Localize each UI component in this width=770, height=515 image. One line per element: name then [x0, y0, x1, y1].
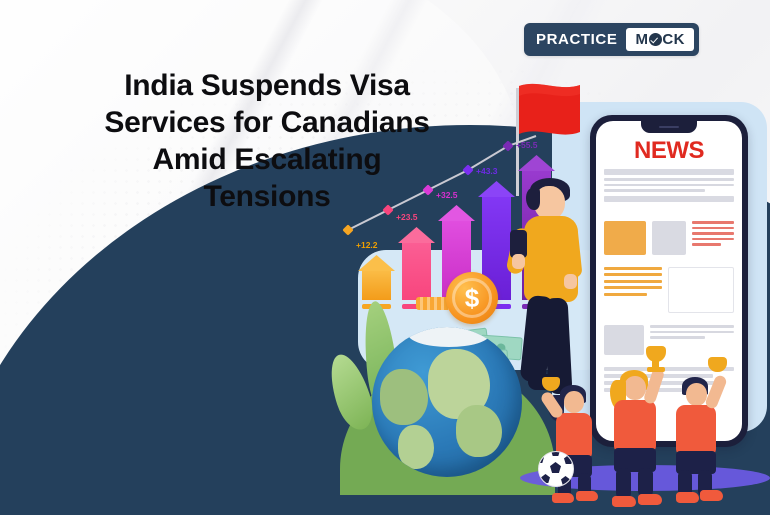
person-hand-right	[564, 274, 577, 289]
person-hand-left	[512, 254, 525, 269]
practicemock-logo[interactable]: PRACTICE MCK	[524, 23, 699, 56]
news-heading: NEWS	[596, 137, 742, 165]
page-title: India Suspends Visa Services for Canadia…	[52, 68, 482, 216]
globe-landmass-4	[398, 425, 434, 469]
shoe-5	[676, 492, 699, 503]
poster-canvas: PRACTICE MCK India Suspends Visa Service…	[0, 0, 770, 515]
logo-practice-text: PRACTICE	[529, 28, 626, 51]
globe-landmass-1	[380, 369, 428, 425]
bar-5-cap-icon	[518, 155, 555, 171]
news-block-article-2	[604, 267, 734, 313]
logo-mock-text: MCK	[626, 28, 693, 51]
person-hair-side	[526, 188, 540, 210]
news-block-article-1	[604, 221, 734, 255]
dollar-coin-icon: $	[446, 272, 498, 324]
soccer-player-right	[660, 357, 740, 499]
check-circle-icon	[649, 33, 662, 46]
soccer-players-group	[542, 324, 770, 499]
bar-2	[402, 240, 431, 300]
shoe-3	[612, 496, 636, 507]
bar-2-cap-icon	[398, 227, 435, 243]
news-block-headline	[604, 169, 734, 205]
soccer-ball-icon	[538, 451, 574, 487]
logo-mock-ck: CK	[662, 32, 684, 47]
bar-1-cap-icon	[358, 255, 395, 271]
phone-notch	[641, 121, 697, 133]
logo-mock-m: M	[635, 32, 648, 47]
bar-1	[362, 268, 391, 300]
globe-landmass-3	[456, 405, 502, 457]
shoe-4	[638, 494, 662, 505]
dollar-symbol: $	[465, 283, 479, 314]
bar-5-label: +55.5	[516, 140, 538, 150]
globe-polar-cap	[408, 327, 490, 347]
shoe-1	[552, 493, 574, 503]
bar-1-label: +12.2	[356, 240, 378, 250]
shoe-2	[576, 491, 598, 501]
globe-icon	[372, 327, 522, 477]
shoe-6	[700, 490, 723, 501]
